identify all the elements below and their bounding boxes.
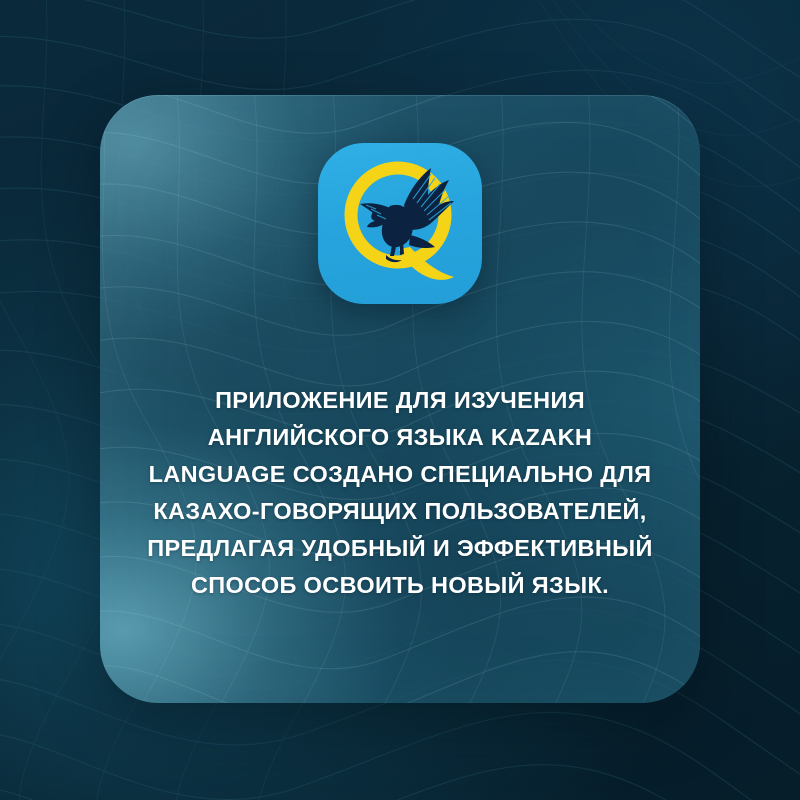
- promo-body-text: ПРИЛОЖЕНИЕ ДЛЯ ИЗУЧЕНИЯ АНГЛИЙСКОГО ЯЗЫК…: [144, 382, 656, 604]
- promo-slide: ПРИЛОЖЕНИЕ ДЛЯ ИЗУЧЕНИЯ АНГЛИЙСКОГО ЯЗЫК…: [0, 0, 800, 800]
- glass-content-card: ПРИЛОЖЕНИЕ ДЛЯ ИЗУЧЕНИЯ АНГЛИЙСКОГО ЯЗЫК…: [100, 95, 700, 703]
- kazakh-language-app-icon[interactable]: [318, 143, 482, 304]
